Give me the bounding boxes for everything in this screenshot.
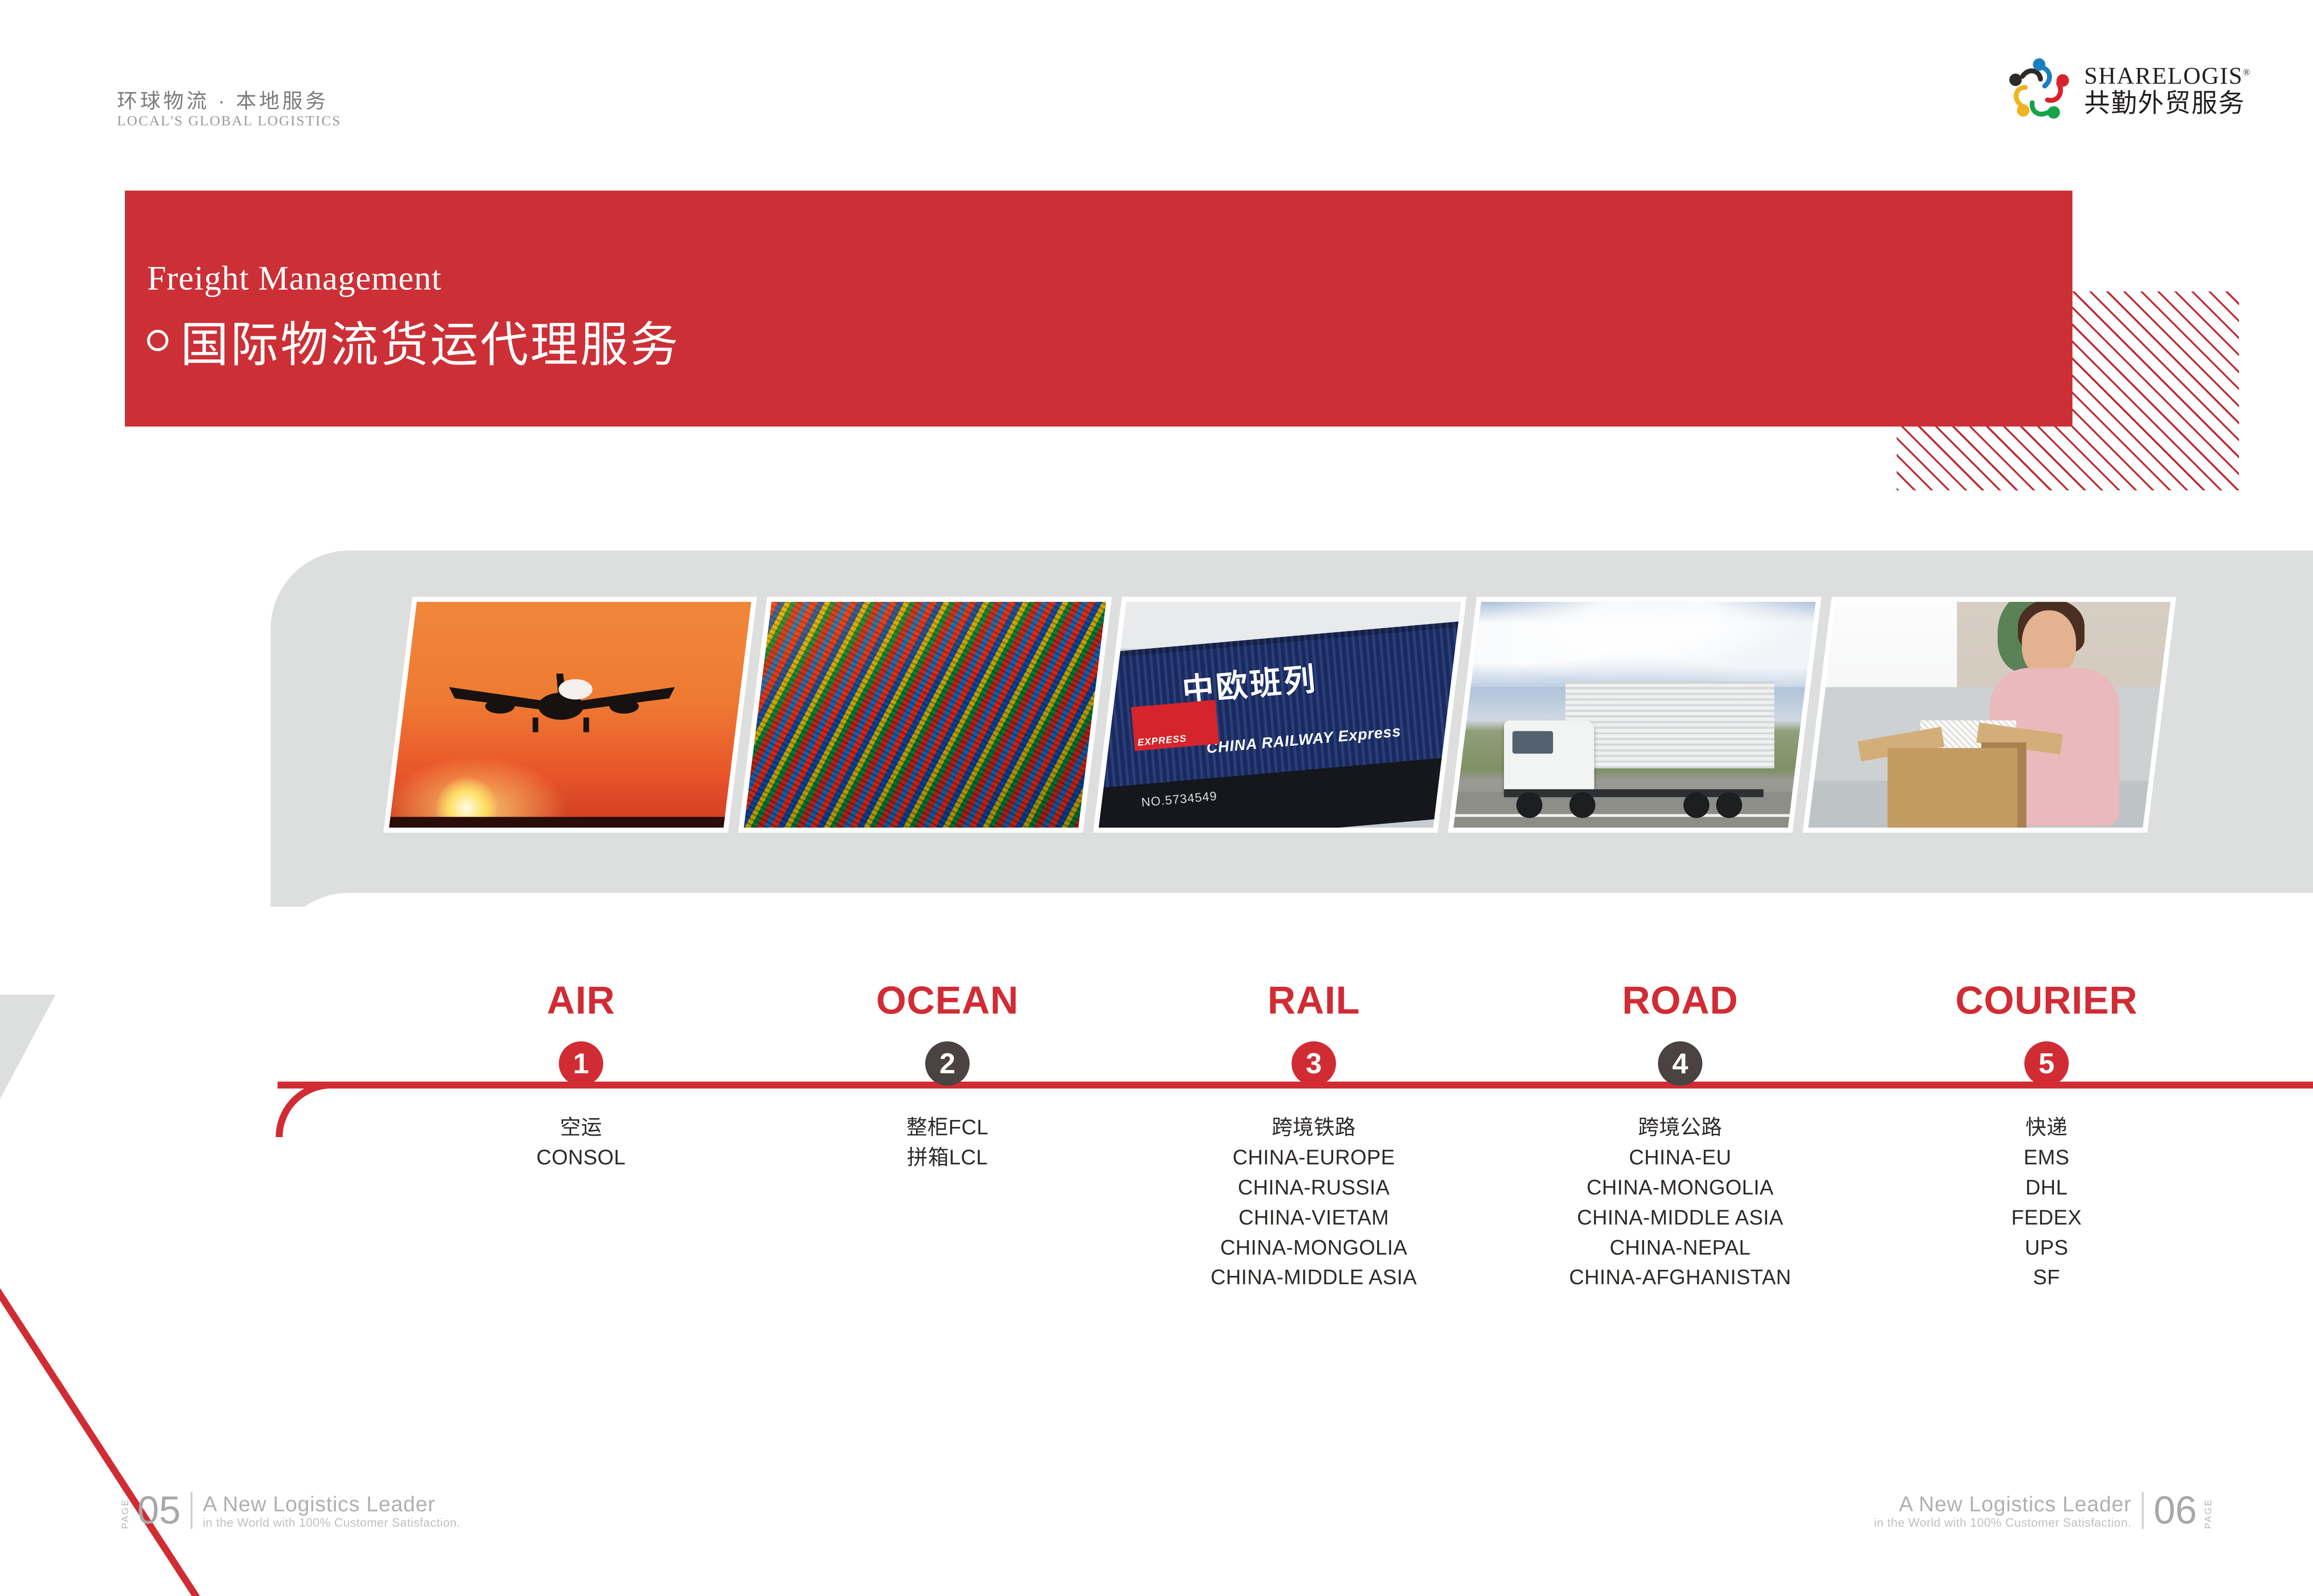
list-item: UPS — [2025, 1235, 2068, 1261]
step-badge[interactable]: 5 — [2024, 1041, 2069, 1086]
list-item: 空运 — [560, 1115, 602, 1140]
service-items: 快递 EMS DHL FEDEX UPS SF — [2011, 1115, 2082, 1290]
service-title: AIR — [547, 981, 615, 1020]
list-item: CHINA-MIDDLE ASIA — [1577, 1205, 1783, 1231]
list-item: CHINA-NEPAL — [1610, 1235, 1751, 1261]
list-item: CHINA-MONGOLIA — [1587, 1175, 1774, 1200]
service-title: OCEAN — [876, 981, 1019, 1020]
footer-left: PAGE 05 A New Logistics Leader in the Wo… — [120, 1492, 460, 1529]
list-item: DHL — [2025, 1175, 2068, 1200]
service-items: 跨境铁路 CHINA-EUROPE CHINA-RUSSIA CHINA-VIE… — [1211, 1115, 1417, 1290]
service-columns: AIR 1 空运 CONSOL OCEAN 2 整柜FCL 拼箱LCL RAIL… — [398, 981, 2230, 1290]
step-badge[interactable]: 2 — [925, 1041, 970, 1086]
banner-title-en: Freight Management — [147, 259, 442, 298]
step-badge[interactable]: 3 — [1292, 1041, 1336, 1086]
service-title: RAIL — [1268, 981, 1360, 1020]
footer-tagline-primary: A New Logistics Leader — [1899, 1493, 2132, 1516]
footer-tagline-secondary: in the World with 100% Customer Satisfac… — [1874, 1516, 2132, 1529]
list-item: 拼箱LCL — [907, 1145, 988, 1170]
step-badge[interactable]: 1 — [559, 1041, 603, 1086]
logo-name-cn: 共勤外贸服务 — [2084, 90, 2251, 116]
logo-name-en: SHARELOGIS — [2084, 63, 2243, 89]
airplane-sunset-photo — [383, 597, 757, 833]
footer-divider — [2142, 1492, 2144, 1529]
list-item: CHINA-EUROPE — [1232, 1145, 1395, 1170]
list-item: CONSOL — [536, 1145, 625, 1170]
page-number: 05 — [137, 1492, 180, 1529]
brand-tagline-en: LOCAL'S GLOBAL LOGISTICS — [117, 112, 341, 129]
footer-divider — [191, 1492, 192, 1529]
service-column-courier[interactable]: COURIER 5 快递 EMS DHL FEDEX UPS SF — [1863, 981, 2230, 1290]
list-item: EMS — [2023, 1145, 2069, 1170]
slide: 环球物流 · 本地服务 LOCAL'S GLOBAL LOGISTICS SHA… — [0, 0, 2313, 1596]
service-items: 整柜FCL 拼箱LCL — [906, 1115, 989, 1170]
page-label: PAGE — [120, 1496, 131, 1529]
sharelogis-people-icon — [2004, 56, 2074, 125]
circle-outline-icon — [147, 330, 168, 351]
list-item: CHINA-MONGOLIA — [1220, 1235, 1408, 1261]
service-column-rail[interactable]: RAIL 3 跨境铁路 CHINA-EUROPE CHINA-RUSSIA CH… — [1131, 981, 1497, 1290]
registered-mark-icon: ® — [2243, 68, 2251, 78]
service-title: COURIER — [1955, 981, 2138, 1020]
photo-strip: 中欧班列 CHINA RAILWAY Express EXPRESS NO.57… — [398, 597, 2162, 833]
gray-diagonal-decoration — [0, 995, 56, 1596]
list-item: 跨境公路 — [1638, 1115, 1722, 1140]
footer-right: A New Logistics Leader in the World with… — [1874, 1492, 2214, 1529]
list-item: CHINA-VIETAM — [1238, 1205, 1389, 1231]
list-item: CHINA-AFGHANISTAN — [1569, 1265, 1791, 1290]
semi-truck-highway-photo — [1448, 597, 1822, 833]
china-railway-express-photo: 中欧班列 CHINA RAILWAY Express EXPRESS NO.57… — [1093, 597, 1467, 833]
list-item: CHINA-MIDDLE ASIA — [1211, 1265, 1417, 1290]
parcel-unboxing-photo — [1803, 597, 2177, 833]
company-logo: SHARELOGIS® 共勤外贸服务 — [2004, 56, 2251, 125]
list-item: SF — [2033, 1265, 2060, 1290]
list-item: FEDEX — [2011, 1205, 2082, 1231]
service-items: 空运 CONSOL — [536, 1115, 625, 1170]
step-badge[interactable]: 4 — [1658, 1041, 1702, 1086]
service-title: ROAD — [1622, 981, 1738, 1020]
service-column-ocean[interactable]: OCEAN 2 整柜FCL 拼箱LCL — [764, 981, 1131, 1290]
list-item: 跨境铁路 — [1272, 1115, 1356, 1140]
service-column-road[interactable]: ROAD 4 跨境公路 CHINA-EU CHINA-MONGOLIA CHIN… — [1497, 981, 1863, 1290]
footer-tagline-secondary: in the World with 100% Customer Satisfac… — [203, 1516, 460, 1529]
page-number: 06 — [2154, 1492, 2197, 1529]
list-item: 快递 — [2025, 1115, 2067, 1140]
list-item: CHINA-EU — [1629, 1145, 1732, 1170]
banner-title-row: 国际物流货运代理服务 — [147, 305, 680, 375]
shipping-containers-photo — [738, 597, 1112, 833]
brand-tagline-cn: 环球物流 · 本地服务 — [117, 84, 328, 114]
footer-tagline-primary: A New Logistics Leader — [203, 1493, 460, 1516]
list-item: CHINA-RUSSIA — [1238, 1175, 1390, 1200]
page-label: PAGE — [2203, 1496, 2214, 1529]
service-items: 跨境公路 CHINA-EU CHINA-MONGOLIA CHINA-MIDDL… — [1569, 1115, 1791, 1290]
airplane-icon — [438, 654, 686, 750]
banner-title-cn: 国际物流货运代理服务 — [180, 305, 680, 375]
cr-express-logo: EXPRESS — [1131, 700, 1219, 751]
service-column-air[interactable]: AIR 1 空运 CONSOL — [398, 981, 764, 1290]
list-item: 整柜FCL — [906, 1115, 989, 1140]
cr-express-badge-label: EXPRESS — [1137, 733, 1187, 749]
